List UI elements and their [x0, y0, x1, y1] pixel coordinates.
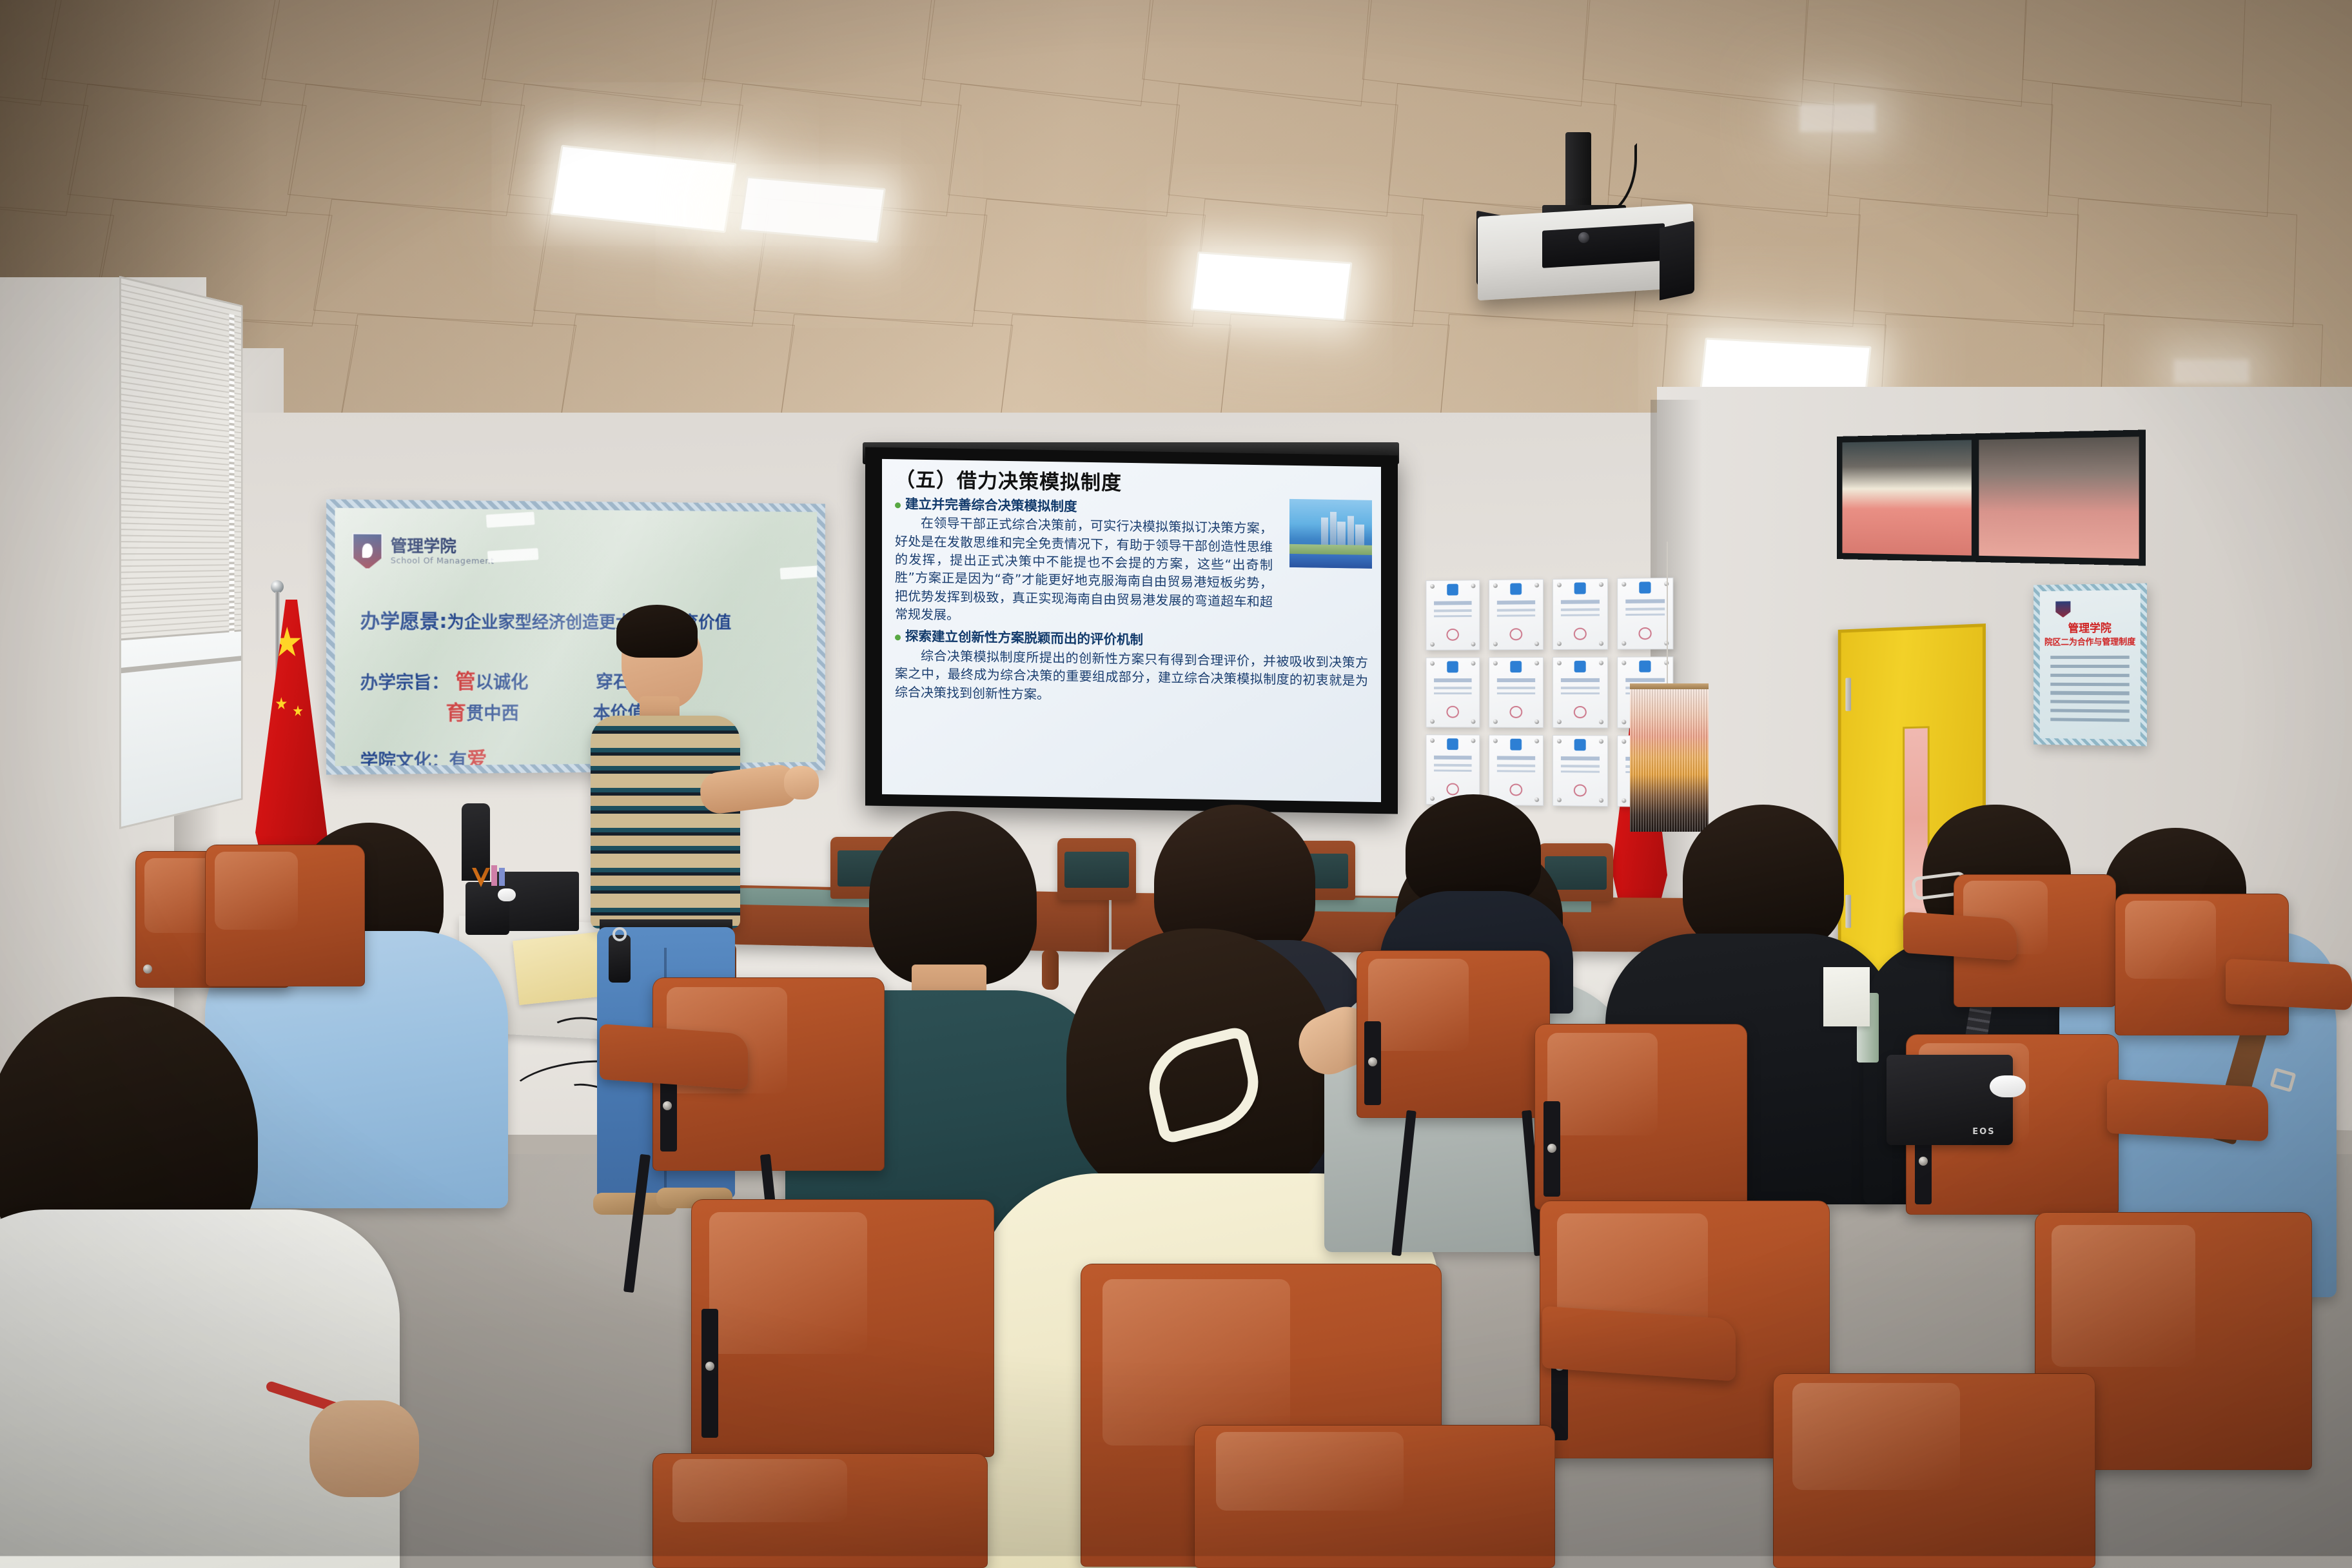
student-hair [1406, 794, 1541, 907]
projector-lens [1578, 232, 1589, 243]
wireless-mouse[interactable] [1990, 1075, 2026, 1097]
student-shirt-white [0, 1210, 400, 1568]
school-logo-shield-icon [352, 533, 382, 570]
lecture-chair[interactable] [1534, 1024, 1747, 1210]
camera-bag[interactable]: EOS [1886, 1055, 2013, 1145]
hanging-rod [1630, 683, 1709, 689]
lecture-chair[interactable] [652, 1453, 988, 1568]
management-school-poster: 管理学院 院区二为合作与管理制度 [2033, 583, 2147, 747]
window-blinds[interactable] [121, 279, 241, 640]
projector-right-side [1660, 220, 1694, 300]
lecture-chair[interactable] [205, 845, 365, 986]
lecturer-shirt [591, 716, 740, 928]
projected-slide: （五）借力决策模拟制度 建立并完善综合决策模拟制度 在领导干部正式综合决策前，可… [882, 459, 1381, 802]
poster-heading-1: 管理学院 [2040, 618, 2141, 635]
slide-bullet-1-heading: 建立并完善综合决策模拟制度 [905, 496, 1077, 514]
certificate-plaque [1553, 578, 1608, 650]
certificate-plaque [1489, 657, 1543, 728]
slide-photo-haikou-skyline [1289, 499, 1372, 569]
ceiling-shading [0, 0, 2352, 445]
ceiling-light-panel [1190, 251, 1352, 321]
camera-bag-brand-label: EOS [1972, 1127, 1995, 1137]
poster-shield-logo-icon [2055, 601, 2070, 617]
window-pane [1842, 440, 1971, 555]
slide-content: （五）借力决策模拟制度 建立并完善综合决策模拟制度 在领导干部正式综合决策前，可… [882, 459, 1381, 802]
certificate-plaque [1617, 578, 1673, 650]
board-tape [487, 548, 539, 563]
lecturer-keys [609, 935, 631, 983]
lecturer-keyring-icon [612, 927, 627, 941]
flag-star-small [275, 697, 287, 710]
chair-tablet-arm[interactable] [2226, 959, 2352, 1010]
board-tape [780, 565, 825, 580]
school-name-cn: 管理学院 [391, 533, 456, 557]
lecturer-hair [616, 605, 698, 658]
slide-bullet-2-paragraph: 综合决策模拟制度所提出的创新性方案只有得到合理评价，并被吸收到决策方案之中，最终… [895, 646, 1369, 709]
lecture-chair[interactable] [1194, 1425, 1555, 1568]
bullet-dot-icon [895, 635, 901, 641]
window-mullion [1972, 440, 1979, 556]
flag-star-small [293, 705, 303, 717]
certificate-plaque [1489, 579, 1543, 650]
certificate-plaque [1426, 657, 1480, 727]
lecturer-hand [784, 766, 819, 799]
blind-cord[interactable] [230, 314, 235, 632]
paper-note-on-desk [1823, 967, 1870, 1026]
hanging-suspension-string [1667, 542, 1668, 703]
window-pane [1979, 436, 2139, 558]
ceiling [0, 0, 2352, 445]
school-name-en: School Of Management [391, 555, 495, 565]
poster-heading-2: 院区二为合作与管理制度 [2040, 635, 2141, 648]
lecture-chair[interactable] [1357, 950, 1550, 1118]
lecture-chair[interactable] [691, 1199, 994, 1457]
window-high-right [1837, 429, 2146, 565]
projection-screen[interactable]: （五）借力决策模拟制度 建立并完善综合决策模拟制度 在领导干部正式综合决策前，可… [865, 447, 1398, 814]
student-arm [309, 1400, 419, 1497]
board-tape [486, 512, 535, 528]
window-left [119, 276, 242, 829]
student-hair [1683, 805, 1844, 953]
flagpole-finial [271, 580, 284, 593]
ceiling-light-panel [2173, 358, 2250, 384]
bullet-dot-icon [895, 502, 901, 508]
certificate-plaque [1553, 657, 1608, 729]
door-hinge [1845, 678, 1851, 711]
chair-tablet-arm[interactable] [1903, 912, 2017, 961]
ceiling-light-panel [1799, 103, 1876, 133]
classroom-scene: （五）借力决策模拟制度 建立并完善综合决策模拟制度 在领导干部正式综合决策前，可… [0, 0, 2352, 1568]
projector-control-face [1542, 223, 1665, 268]
slide-bullet-2-heading: 探索建立创新性方案脱颖而出的评价机制 [905, 629, 1143, 648]
slide-title: （五）借力决策模拟制度 [895, 469, 1369, 498]
lecture-chair[interactable] [1773, 1373, 2095, 1568]
chair-tablet-arm[interactable] [2107, 1079, 2268, 1141]
person-student-white-polo [0, 997, 413, 1568]
certificate-plaque [1426, 580, 1480, 651]
